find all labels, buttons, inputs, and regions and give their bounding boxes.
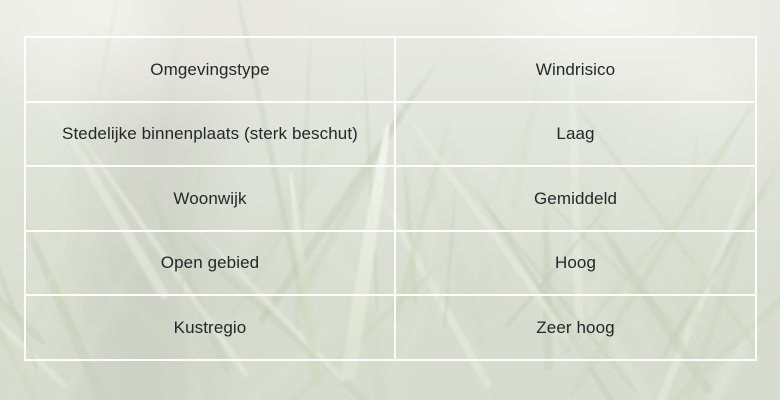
cell-text-environment: Woonwijk [173, 188, 246, 209]
header-cell-environment: Omgevingstype [26, 38, 396, 101]
cell-text-wind-risk: Zeer hoog [536, 317, 614, 338]
cell-environment: Woonwijk [26, 167, 396, 230]
cell-wind-risk: Zeer hoog [396, 296, 755, 359]
cell-text-environment: Stedelijke binnenplaats (sterk beschut) [62, 123, 358, 144]
cell-text-wind-risk: Hoog [555, 252, 596, 273]
table-header-row: Omgevingstype Windrisico [26, 38, 755, 103]
screenshot-canvas: Omgevingstype Windrisico Stedelijke binn… [0, 0, 780, 400]
cell-environment: Kustregio [26, 296, 396, 359]
cell-text-environment: Open gebied [161, 252, 259, 273]
wind-risk-table: Omgevingstype Windrisico Stedelijke binn… [24, 36, 757, 361]
cell-wind-risk: Laag [396, 103, 755, 166]
table-row: Stedelijke binnenplaats (sterk beschut) … [26, 103, 755, 168]
header-label-environment: Omgevingstype [150, 59, 269, 80]
table-row: Open gebied Hoog [26, 232, 755, 297]
cell-environment: Open gebied [26, 232, 396, 295]
cell-wind-risk: Hoog [396, 232, 755, 295]
cell-text-environment: Kustregio [174, 317, 247, 338]
table-row: Woonwijk Gemiddeld [26, 167, 755, 232]
cell-wind-risk: Gemiddeld [396, 167, 755, 230]
header-label-wind-risk: Windrisico [536, 59, 615, 80]
cell-environment: Stedelijke binnenplaats (sterk beschut) [26, 103, 396, 166]
header-cell-wind-risk: Windrisico [396, 38, 755, 101]
table-row: Kustregio Zeer hoog [26, 296, 755, 359]
cell-text-wind-risk: Laag [556, 123, 594, 144]
cell-text-wind-risk: Gemiddeld [534, 188, 617, 209]
